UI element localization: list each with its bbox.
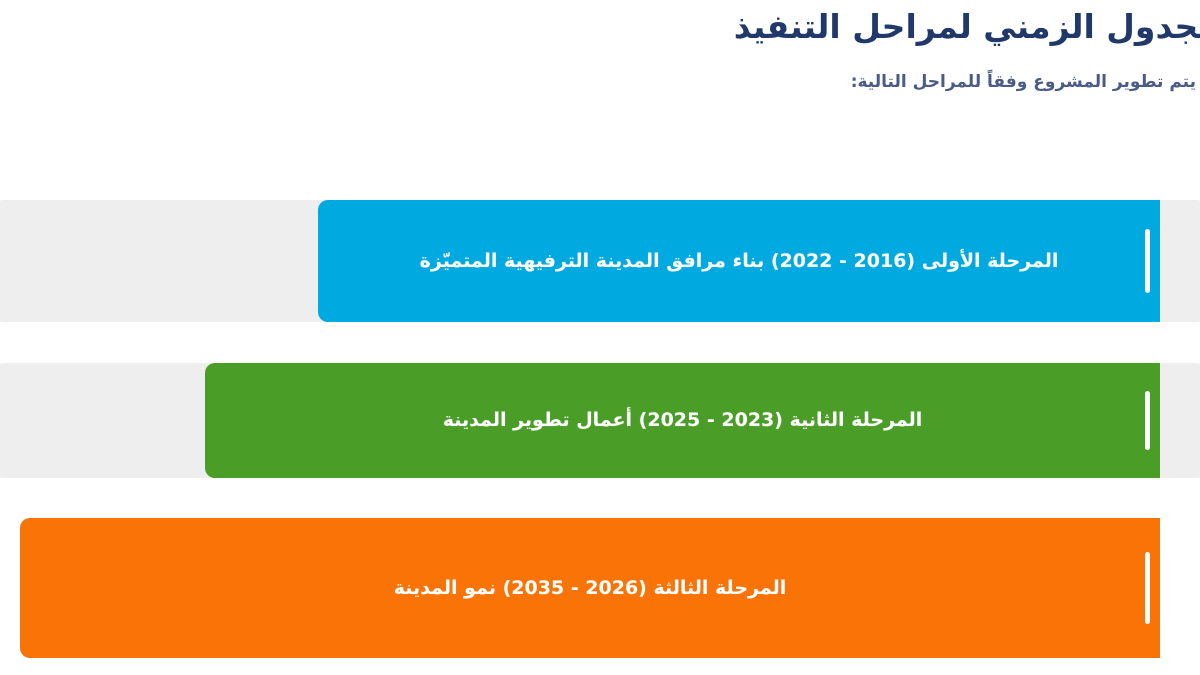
timeline-row-phase-1: المرحلة الأولى (2016 - 2022) بناء مرافق … <box>0 200 1200 322</box>
timeline-row-phase-2: المرحلة الثانية (2023 - 2025) أعمال تطوي… <box>0 363 1200 478</box>
timeline-chart: المرحلة الأولى (2016 - 2022) بناء مرافق … <box>0 160 1200 675</box>
bar-end-marker-icon <box>1145 391 1150 451</box>
chart-header: الجدول الزمني لمراحل التنفيذ يتم تطوير ا… <box>0 0 1200 160</box>
timeline-bar-phase-1[interactable]: المرحلة الأولى (2016 - 2022) بناء مرافق … <box>318 200 1160 322</box>
timeline-bar-phase-2[interactable]: المرحلة الثانية (2023 - 2025) أعمال تطوي… <box>205 363 1160 478</box>
page-title: الجدول الزمني لمراحل التنفيذ <box>734 6 1200 47</box>
timeline-bar-label: المرحلة الأولى (2016 - 2022) بناء مرافق … <box>420 252 1059 271</box>
chart-subtitle: يتم تطوير المشروع وفقاً للمراحل التالية: <box>851 72 1196 92</box>
bar-end-marker-icon <box>1145 552 1150 625</box>
timeline-bar-label: المرحلة الثانية (2023 - 2025) أعمال تطوي… <box>443 411 923 430</box>
timeline-row-phase-3: المرحلة الثالثة (2026 - 2035) نمو المدين… <box>0 518 1200 658</box>
timeline-bar-label: المرحلة الثالثة (2026 - 2035) نمو المدين… <box>394 579 786 598</box>
bar-end-marker-icon <box>1145 229 1150 292</box>
timeline-bar-phase-3[interactable]: المرحلة الثالثة (2026 - 2035) نمو المدين… <box>20 518 1160 658</box>
